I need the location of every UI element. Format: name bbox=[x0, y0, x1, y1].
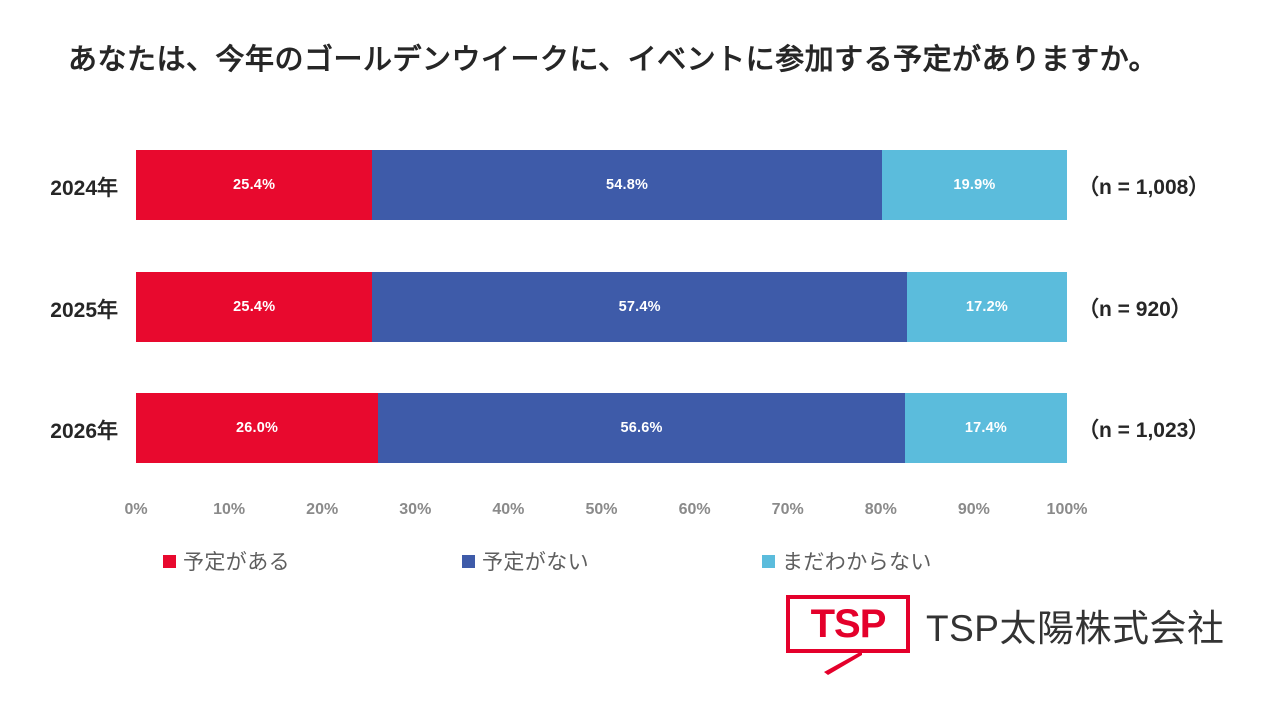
logo-bubble-tail-icon bbox=[822, 651, 862, 675]
chart-plot-area: 25.4% 54.8% 19.9% 25.4% 57.4% 17.2% 26.0… bbox=[136, 150, 1067, 468]
x-axis-tick-label: 50% bbox=[585, 501, 617, 519]
legend-label: 予定がない bbox=[482, 546, 589, 576]
bar-value-label: 56.6% bbox=[620, 420, 662, 436]
bar-value-label: 19.9% bbox=[953, 177, 995, 193]
bar-value-label: 26.0% bbox=[236, 420, 278, 436]
x-axis-tick-label: 0% bbox=[124, 501, 147, 519]
legend-swatch-icon bbox=[462, 555, 475, 568]
x-axis: 0%10%20%30%40%50%60%70%80%90%100% bbox=[136, 501, 1067, 525]
category-label-2026: 2026年 bbox=[0, 415, 118, 445]
legend-item-mada-wakaranai[interactable]: まだわからない bbox=[762, 546, 932, 576]
bar-value-label: 25.4% bbox=[233, 299, 275, 315]
tsp-speech-bubble-icon: TSP bbox=[786, 595, 910, 653]
legend-item-yotei-ga-nai[interactable]: 予定がない bbox=[462, 546, 589, 576]
category-label-2024: 2024年 bbox=[0, 172, 118, 202]
stacked-bar-2025: 25.4% 57.4% 17.2% bbox=[136, 272, 1067, 342]
logo-mark-text: TSP bbox=[786, 595, 910, 653]
bar-segment-yotei-ga-nai-2026[interactable]: 56.6% bbox=[378, 393, 905, 463]
x-axis-tick-label: 80% bbox=[865, 501, 897, 519]
x-axis-tick-label: 20% bbox=[306, 501, 338, 519]
bar-value-label: 17.2% bbox=[966, 299, 1008, 315]
x-axis-tick-label: 100% bbox=[1047, 501, 1088, 519]
chart-legend: 予定がある 予定がない まだわからない bbox=[0, 546, 1280, 576]
category-label-2025: 2025年 bbox=[0, 294, 118, 324]
bar-segment-mada-wakaranai-2024[interactable]: 19.9% bbox=[882, 150, 1067, 220]
sample-size-2024: （n = 1,008） bbox=[1078, 171, 1209, 201]
bar-value-label: 54.8% bbox=[606, 177, 648, 193]
bar-value-label: 57.4% bbox=[619, 299, 661, 315]
bar-segment-yotei-ga-nai-2025[interactable]: 57.4% bbox=[372, 272, 906, 342]
stacked-bar-2026: 26.0% 56.6% 17.4% bbox=[136, 393, 1067, 463]
sample-size-2026: （n = 1,023） bbox=[1078, 414, 1209, 444]
bar-segment-yotei-ga-aru-2026[interactable]: 26.0% bbox=[136, 393, 378, 463]
page-title: あなたは、今年のゴールデンウイークに、イベントに参加する予定がありますか。 bbox=[68, 36, 1218, 78]
legend-label: まだわからない bbox=[782, 546, 932, 576]
bar-segment-mada-wakaranai-2025[interactable]: 17.2% bbox=[907, 272, 1067, 342]
legend-swatch-icon bbox=[762, 555, 775, 568]
x-axis-tick-label: 90% bbox=[958, 501, 990, 519]
bar-segment-yotei-ga-nai-2024[interactable]: 54.8% bbox=[372, 150, 882, 220]
bar-segment-mada-wakaranai-2026[interactable]: 17.4% bbox=[905, 393, 1067, 463]
company-name: TSP太陽株式会社 bbox=[926, 598, 1224, 652]
x-axis-tick-label: 40% bbox=[492, 501, 524, 519]
company-logo: TSP TSP太陽株式会社 bbox=[786, 592, 1226, 670]
x-axis-tick-label: 10% bbox=[213, 501, 245, 519]
x-axis-tick-label: 60% bbox=[679, 501, 711, 519]
sample-size-2025: （n = 920） bbox=[1078, 293, 1192, 323]
legend-item-yotei-ga-aru[interactable]: 予定がある bbox=[163, 546, 290, 576]
bar-segment-yotei-ga-aru-2024[interactable]: 25.4% bbox=[136, 150, 372, 220]
x-axis-tick-label: 30% bbox=[399, 501, 431, 519]
legend-label: 予定がある bbox=[183, 546, 290, 576]
bar-value-label: 25.4% bbox=[233, 177, 275, 193]
legend-swatch-icon bbox=[163, 555, 176, 568]
bar-value-label: 17.4% bbox=[965, 420, 1007, 436]
x-axis-tick-label: 70% bbox=[772, 501, 804, 519]
bar-segment-yotei-ga-aru-2025[interactable]: 25.4% bbox=[136, 272, 372, 342]
stacked-bar-2024: 25.4% 54.8% 19.9% bbox=[136, 150, 1067, 220]
